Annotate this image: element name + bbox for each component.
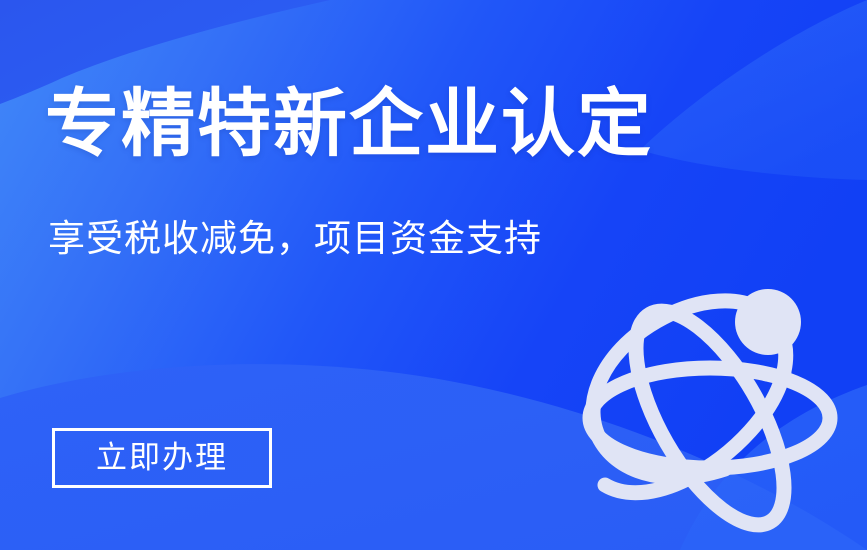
promotional-banner: 专精特新企业认定 享受税收减免，项目资金支持 立即办理 xyxy=(0,0,867,550)
banner-subtitle: 享受税收减免，项目资金支持 xyxy=(48,214,542,264)
apply-now-button[interactable]: 立即办理 xyxy=(52,428,272,488)
atom-icon xyxy=(575,283,850,545)
atom-electron xyxy=(735,289,801,355)
atom-orbit-horizontal xyxy=(590,368,830,468)
banner-title: 专精特新企业认定 xyxy=(45,79,653,169)
